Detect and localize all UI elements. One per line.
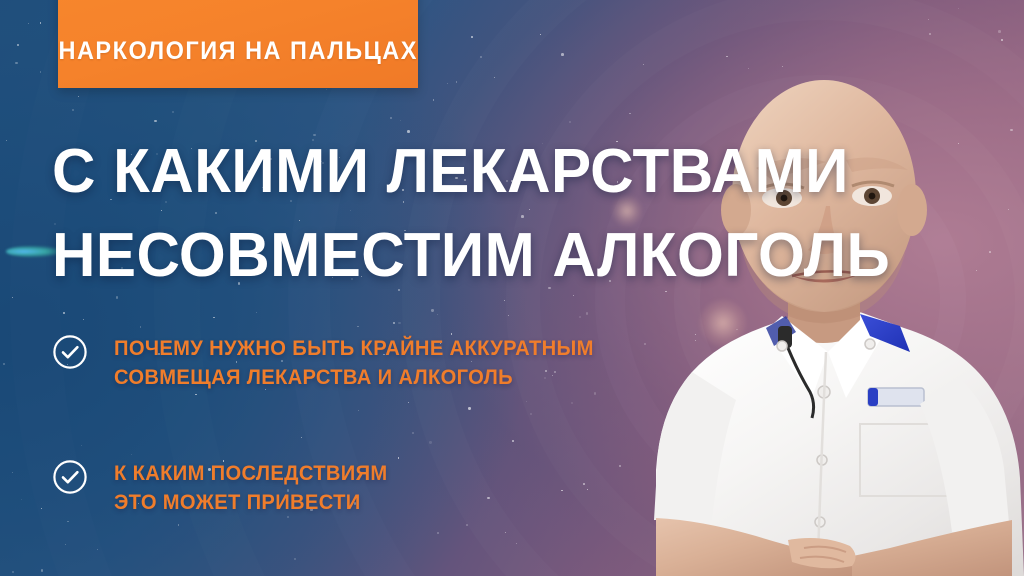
bullet-item-1: ПОЧЕМУ НУЖНО БЫТЬ КРАЙНЕ АККУРАТНЫМ СОВМ… xyxy=(52,333,692,392)
category-badge: НАРКОЛОГИЯ НА ПАЛЬЦАХ xyxy=(58,0,418,88)
bullet-item-2-text: К КАКИМ ПОСЛЕДСТВИЯМ ЭТО МОЖЕТ ПРИВЕСТИ xyxy=(114,458,399,517)
thumbnail-canvas: НАРКОЛОГИЯ НА ПАЛЬЦАХ С КАКИМИ ЛЕКАРСТВА… xyxy=(0,0,1024,576)
bullet-1-line-1: ПОЧЕМУ НУЖНО БЫТЬ КРАЙНЕ АККУРАТНЫМ xyxy=(114,334,594,363)
bullet-1-line-2: СОВМЕЩАЯ ЛЕКАРСТВА И АЛКОГОЛЬ xyxy=(114,363,594,392)
lens-glow-dot xyxy=(700,300,746,346)
headline-line-2: НЕСОВМЕСТИМ АЛКОГОЛЬ xyxy=(52,214,731,298)
headline: С КАКИМИ ЛЕКАРСТВАМИ НЕСОВМЕСТИМ АЛКОГОЛ… xyxy=(52,130,752,298)
headline-line-1: С КАКИМИ ЛЕКАРСТВАМИ xyxy=(52,130,731,214)
bullet-list: ПОЧЕМУ НУЖНО БЫТЬ КРАЙНЕ АККУРАТНЫМ СОВМ… xyxy=(52,333,692,517)
bullet-item-1-text: ПОЧЕМУ НУЖНО БЫТЬ КРАЙНЕ АККУРАТНЫМ СОВМ… xyxy=(114,333,614,392)
bullet-2-line-1: К КАКИМ ПОСЛЕДСТВИЯМ xyxy=(114,459,388,488)
category-badge-label: НАРКОЛОГИЯ НА ПАЛЬЦАХ xyxy=(58,37,417,66)
bullet-2-line-2: ЭТО МОЖЕТ ПРИВЕСТИ xyxy=(114,488,388,517)
check-circle-icon xyxy=(52,334,88,370)
check-circle-icon xyxy=(52,459,88,495)
bullet-item-2: К КАКИМ ПОСЛЕДСТВИЯМ ЭТО МОЖЕТ ПРИВЕСТИ xyxy=(52,458,692,517)
